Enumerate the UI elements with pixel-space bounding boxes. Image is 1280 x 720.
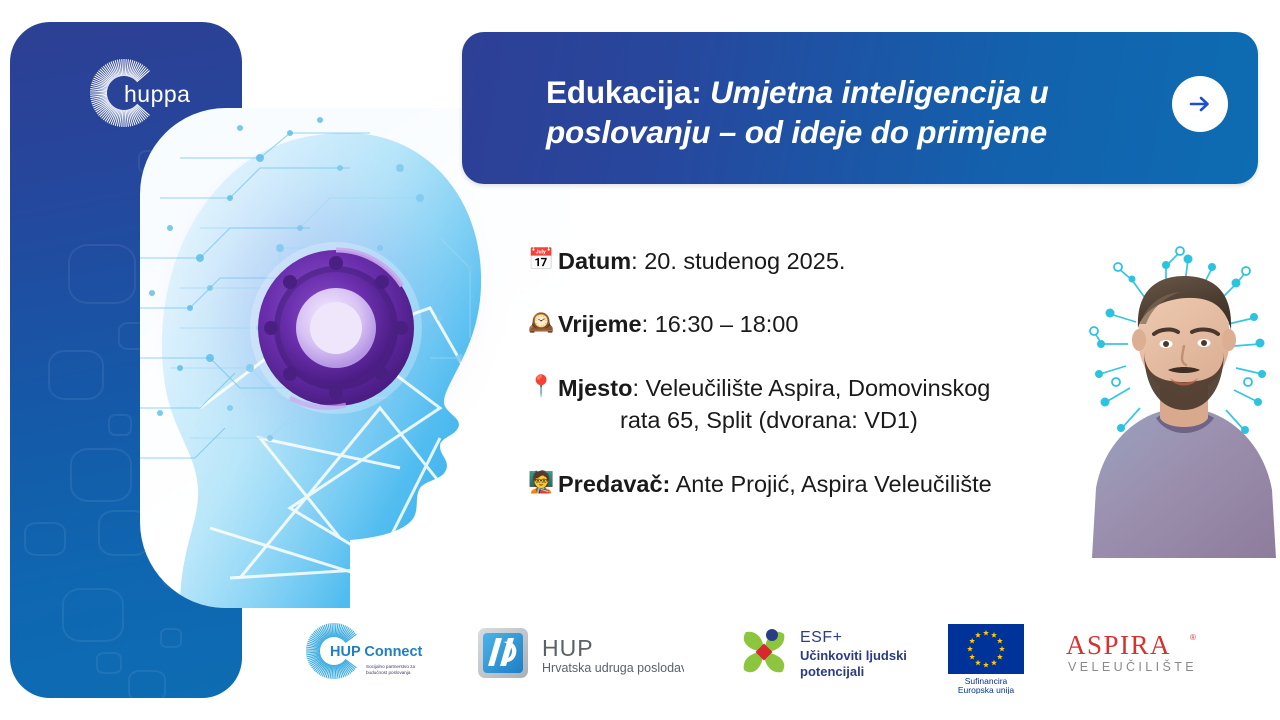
hup-logo: HUP Hrvatska udruga poslodavaca bbox=[478, 624, 684, 682]
presentation-slide: huppa bbox=[0, 0, 1280, 720]
detail-row-time: 🕰️ Vrijeme: 16:30 – 18:00 bbox=[528, 307, 1088, 340]
esf-plus-logo: ESF+ Učinkoviti ljudski potencijali bbox=[734, 622, 924, 684]
decor-shape bbox=[62, 588, 124, 642]
detail-value: Veleučilište Aspira, Domovinskog bbox=[646, 375, 991, 401]
detail-row-location: 📍 Mjesto: Veleučilište Aspira, Domovinsk… bbox=[528, 371, 1088, 437]
esf-subtitle-2: potencijali bbox=[800, 664, 864, 679]
detail-value: Ante Projić, Aspira Veleučilište bbox=[676, 471, 992, 497]
detail-separator: : bbox=[631, 248, 644, 274]
detail-value: 16:30 – 18:00 bbox=[655, 311, 799, 337]
detail-text: Predavač: Ante Projić, Aspira Veleučiliš… bbox=[558, 467, 992, 500]
hup-title: HUP bbox=[542, 635, 594, 661]
teacher-icon: 🧑‍🏫 bbox=[528, 467, 558, 497]
esf-pinwheel bbox=[744, 629, 785, 672]
aspira-logo: ASPIRA ® VELEUČILIŠTE bbox=[1066, 628, 1216, 680]
hup-connect-tagline-1: Socijalno partnerstvo za bbox=[366, 664, 415, 669]
speaker-photo bbox=[1088, 232, 1280, 558]
detail-row-speaker: 🧑‍🏫 Predavač: Ante Projić, Aspira Veleuč… bbox=[528, 467, 1088, 500]
decor-shape bbox=[70, 448, 132, 502]
detail-value-line2: rata 65, Split (dvorana: VD1) bbox=[558, 404, 990, 436]
esf-title: ESF+ bbox=[800, 629, 842, 646]
hup-connect-logo: HUP Connect Socijalno partnerstvo za bud… bbox=[304, 618, 444, 684]
detail-label: Mjesto bbox=[558, 375, 632, 401]
hup-subtitle: Hrvatska udruga poslodavaca bbox=[542, 661, 684, 675]
event-details-list: 📅 Datum: 20. studenog 2025. 🕰️ Vrijeme: … bbox=[528, 244, 1088, 500]
eu-caption-2: Europska unija bbox=[958, 685, 1015, 694]
detail-label: Vrijeme bbox=[558, 311, 642, 337]
esf-subtitle-1: Učinkoviti ljudski bbox=[800, 648, 907, 663]
decor-shape bbox=[128, 670, 166, 698]
page-title: Edukacija: Umjetna inteligencija u poslo… bbox=[546, 72, 1186, 153]
eu-flag-logo: Sufinancira Europska unija bbox=[940, 622, 1032, 694]
hup-connect-title: HUP Connect bbox=[330, 644, 423, 660]
detail-value: 20. studenog 2025. bbox=[644, 248, 845, 274]
detail-text: Datum: 20. studenog 2025. bbox=[558, 244, 845, 277]
title-banner: Edukacija: Umjetna inteligencija u poslo… bbox=[462, 32, 1258, 184]
detail-separator: : bbox=[642, 311, 655, 337]
calendar-icon: 📅 bbox=[528, 244, 558, 274]
ai-core bbox=[250, 242, 422, 414]
next-arrow-button[interactable] bbox=[1172, 76, 1228, 132]
detail-label: Datum bbox=[558, 248, 631, 274]
decor-shape bbox=[108, 414, 132, 436]
title-prefix: Edukacija: bbox=[546, 74, 710, 110]
decor-shape bbox=[160, 628, 182, 648]
aspira-registered: ® bbox=[1190, 633, 1196, 642]
decor-shape bbox=[96, 652, 122, 674]
detail-row-date: 📅 Datum: 20. studenog 2025. bbox=[528, 244, 1088, 277]
arrow-right-icon bbox=[1185, 89, 1215, 119]
location-pin-icon: 📍 bbox=[528, 371, 558, 401]
aspira-title: ASPIRA bbox=[1066, 630, 1171, 660]
detail-separator: : bbox=[632, 375, 645, 401]
decor-shape bbox=[24, 522, 66, 556]
decor-shape bbox=[48, 350, 104, 400]
huppa-wordmark: huppa bbox=[124, 81, 190, 107]
detail-text: Vrijeme: 16:30 – 18:00 bbox=[558, 307, 798, 340]
hup-connect-tagline-2: budućnost poslovanja bbox=[366, 670, 411, 675]
detail-text: Mjesto: Veleučilište Aspira, Domovinskog… bbox=[558, 371, 990, 437]
detail-label: Predavač: bbox=[558, 471, 670, 497]
decor-shape bbox=[68, 244, 136, 304]
clock-icon: 🕰️ bbox=[528, 307, 558, 337]
footer-logo-bar: HUP Connect Socijalno partnerstvo za bud… bbox=[248, 612, 1270, 708]
aspira-subtitle: VELEUČILIŠTE bbox=[1068, 659, 1197, 674]
